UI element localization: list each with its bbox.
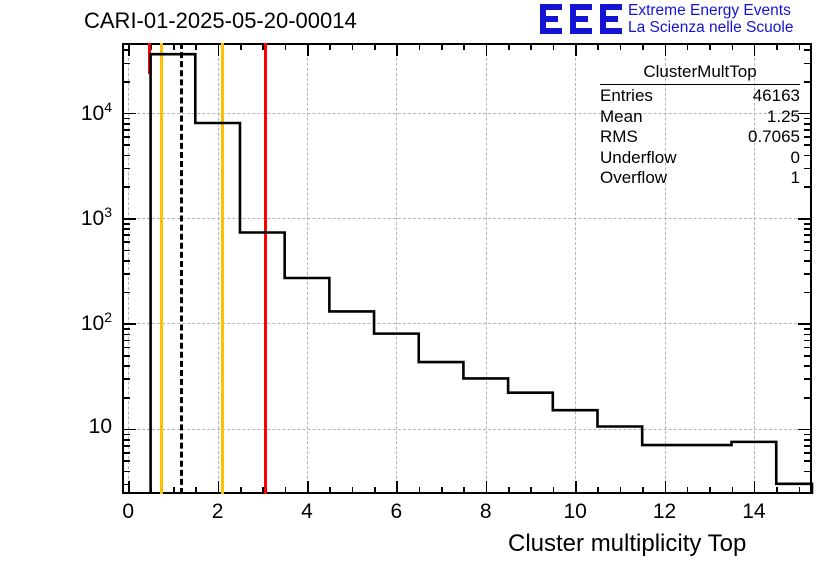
y-axis-tick-right xyxy=(804,460,812,462)
y-axis-tick-right xyxy=(804,445,812,447)
y-axis-tick xyxy=(122,49,130,51)
x-axis-tick-top xyxy=(374,43,376,50)
y-axis-tick xyxy=(122,129,130,131)
x-axis-tick xyxy=(240,487,242,494)
x-axis-tick xyxy=(329,487,331,494)
y-axis-tick-right xyxy=(804,186,812,188)
eee-logo: Extreme Energy Events La Scienza nelle S… xyxy=(540,2,832,36)
stats-value: 0.7065 xyxy=(748,127,800,148)
y-axis-tick-right xyxy=(804,355,812,357)
x-axis-tick-top xyxy=(396,43,398,56)
y-axis-label: 103 xyxy=(42,204,112,231)
y-axis-tick xyxy=(122,347,130,349)
x-axis-tick-top xyxy=(597,43,599,50)
y-axis-tick xyxy=(122,334,130,336)
x-axis-tick xyxy=(597,487,599,494)
stats-key: Entries xyxy=(600,86,653,107)
y-axis-tick xyxy=(122,378,130,380)
y-axis-tick-right xyxy=(804,155,812,157)
y-axis-tick-right xyxy=(804,81,812,83)
y-axis-tick xyxy=(122,340,130,342)
stats-rows: Entries46163Mean1.25RMS0.7065Underflow0O… xyxy=(600,86,800,189)
y-axis-tick xyxy=(122,113,136,115)
x-axis-tick xyxy=(665,481,667,494)
x-axis-tick-top xyxy=(195,43,197,50)
y-axis-tick xyxy=(122,144,130,146)
y-axis-tick xyxy=(122,439,130,441)
statistics-box: ClusterMultTop Entries46163Mean1.25RMS0.… xyxy=(600,62,800,189)
x-axis-label: 8 xyxy=(456,500,516,524)
y-axis-tick-right xyxy=(798,323,812,325)
x-axis-tick-top xyxy=(285,43,287,50)
y-axis-tick-right xyxy=(804,378,812,380)
stats-key: Mean xyxy=(600,107,643,128)
x-axis-tick xyxy=(799,487,801,494)
stats-key: Underflow xyxy=(600,148,677,169)
stats-row: Underflow0 xyxy=(600,148,800,169)
y-axis-tick xyxy=(122,186,130,188)
x-axis-tick-top xyxy=(799,43,801,50)
x-axis-tick xyxy=(307,481,309,494)
x-axis-tick xyxy=(776,487,778,494)
x-axis-label: 2 xyxy=(188,500,248,524)
x-axis-tick-top xyxy=(486,43,488,56)
y-axis-tick-right xyxy=(804,144,812,146)
x-axis-label: 10 xyxy=(545,500,605,524)
y-axis-tick xyxy=(122,168,130,170)
x-axis-tick xyxy=(195,487,197,494)
stats-value: 1.25 xyxy=(767,107,800,128)
x-axis-tick xyxy=(620,487,622,494)
x-axis-tick-top xyxy=(508,43,510,50)
y-axis-label: 102 xyxy=(42,309,112,336)
y-axis-tick xyxy=(122,365,130,367)
x-axis-tick-top xyxy=(709,43,711,50)
stats-key: Overflow xyxy=(600,168,667,189)
y-axis-tick-right xyxy=(804,292,812,294)
x-axis-tick-top xyxy=(776,43,778,50)
x-axis-tick xyxy=(352,487,354,494)
stats-row: Mean1.25 xyxy=(600,107,800,128)
y-axis-tick-right xyxy=(804,49,812,51)
stats-value: 0 xyxy=(791,148,800,169)
page-title: CARI-01-2025-05-20-00014 xyxy=(84,8,357,34)
x-axis-tick xyxy=(173,487,175,494)
x-axis-tick-top xyxy=(419,43,421,50)
x-axis-tick xyxy=(396,481,398,494)
y-axis-tick xyxy=(122,273,130,275)
y-axis-tick-right xyxy=(804,347,812,349)
x-axis-tick xyxy=(419,487,421,494)
y-axis-tick xyxy=(122,292,130,294)
y-axis-tick xyxy=(122,118,130,120)
x-axis-tick-top xyxy=(463,43,465,50)
x-axis-tick xyxy=(151,487,153,494)
x-axis-tick xyxy=(486,481,488,494)
y-axis-tick-right xyxy=(804,234,812,236)
x-axis-tick xyxy=(262,487,264,494)
x-axis-tick xyxy=(218,481,220,494)
y-axis-tick xyxy=(122,397,130,399)
y-axis-tick-right xyxy=(804,260,812,262)
x-axis-tick xyxy=(441,487,443,494)
x-axis-label: 4 xyxy=(277,500,337,524)
x-axis-tick xyxy=(709,487,711,494)
x-axis-tick-top xyxy=(240,43,242,50)
y-axis-tick xyxy=(122,434,130,436)
y-axis-tick-right xyxy=(804,334,812,336)
x-axis-title: Cluster multiplicity Top xyxy=(508,530,746,558)
x-axis-tick-top xyxy=(665,43,667,56)
y-axis-tick-right xyxy=(804,484,812,486)
y-axis-tick xyxy=(122,223,130,225)
y-axis-tick xyxy=(122,234,130,236)
y-axis-tick-right xyxy=(804,439,812,441)
y-axis-tick-right xyxy=(804,340,812,342)
y-axis-tick-right xyxy=(804,136,812,138)
eee-logo-text: Extreme Energy Events La Scienza nelle S… xyxy=(628,2,793,36)
x-axis-tick xyxy=(374,487,376,494)
eee-logo-icon xyxy=(540,4,622,34)
stats-key: RMS xyxy=(600,127,638,148)
y-axis-tick-right xyxy=(798,113,812,115)
y-axis-tick xyxy=(122,328,130,330)
y-axis-tick-right xyxy=(804,168,812,170)
y-axis-tick-right xyxy=(804,328,812,330)
y-axis-label: 104 xyxy=(42,99,112,126)
x-axis-tick xyxy=(687,487,689,494)
y-axis-tick-right xyxy=(804,223,812,225)
x-axis-tick-top xyxy=(642,43,644,50)
y-axis-label: 10 xyxy=(42,415,112,439)
x-axis-tick-top xyxy=(352,43,354,50)
x-axis-tick-top xyxy=(575,43,577,56)
y-axis-tick-right xyxy=(804,452,812,454)
y-axis-tick xyxy=(122,471,130,473)
y-axis-tick xyxy=(122,155,130,157)
x-axis-tick-top xyxy=(620,43,622,50)
x-axis-tick xyxy=(285,487,287,494)
stats-title: ClusterMultTop xyxy=(600,62,800,85)
x-axis-tick-top xyxy=(754,43,756,56)
x-axis-tick xyxy=(732,487,734,494)
y-axis-tick xyxy=(122,241,130,243)
y-axis-tick-right xyxy=(804,123,812,125)
y-axis-tick-right xyxy=(804,63,812,65)
y-axis-tick-right xyxy=(804,471,812,473)
x-axis-tick-top xyxy=(307,43,309,56)
x-axis-tick-top xyxy=(530,43,532,50)
y-axis-tick xyxy=(122,355,130,357)
y-axis-tick xyxy=(122,63,130,65)
y-axis-tick xyxy=(122,452,130,454)
y-axis-tick xyxy=(122,81,130,83)
eee-logo-line1: Extreme Energy Events xyxy=(628,2,793,19)
y-axis-tick-right xyxy=(804,365,812,367)
stats-row: Overflow1 xyxy=(600,168,800,189)
y-axis-tick xyxy=(122,323,136,325)
y-axis-tick xyxy=(122,123,130,125)
y-axis-tick-right xyxy=(804,241,812,243)
x-axis-tick xyxy=(642,487,644,494)
y-axis-tick xyxy=(122,460,130,462)
y-axis-tick-right xyxy=(804,250,812,252)
y-axis-tick-right xyxy=(798,218,812,220)
x-axis-tick-top xyxy=(262,43,264,50)
x-axis-tick-top xyxy=(553,43,555,50)
x-axis-tick-top xyxy=(732,43,734,50)
x-axis-tick xyxy=(530,487,532,494)
x-axis-label: 14 xyxy=(724,500,784,524)
y-axis-tick xyxy=(122,445,130,447)
x-axis-label: 6 xyxy=(366,500,426,524)
x-axis-tick xyxy=(463,487,465,494)
stats-row: RMS0.7065 xyxy=(600,127,800,148)
y-axis-tick-right xyxy=(804,397,812,399)
eee-logo-line2: La Scienza nelle Scuole xyxy=(628,19,793,36)
stats-row: Entries46163 xyxy=(600,86,800,107)
x-axis-tick xyxy=(575,481,577,494)
y-axis-tick-right xyxy=(804,273,812,275)
x-axis-tick-top xyxy=(329,43,331,50)
x-axis-tick-top xyxy=(441,43,443,50)
x-axis-tick xyxy=(508,487,510,494)
x-axis-tick-top xyxy=(218,43,220,56)
y-axis-tick-right xyxy=(804,129,812,131)
y-axis-tick-right xyxy=(804,434,812,436)
y-axis-tick xyxy=(122,260,130,262)
y-axis-tick-right xyxy=(804,228,812,230)
stats-value: 46163 xyxy=(753,86,800,107)
stats-value: 1 xyxy=(791,168,800,189)
y-axis-tick xyxy=(122,136,130,138)
x-axis-tick xyxy=(754,481,756,494)
y-axis-tick-right xyxy=(798,429,812,431)
y-axis-tick xyxy=(122,218,136,220)
x-axis-tick-top xyxy=(151,43,153,50)
y-axis-tick xyxy=(122,228,130,230)
x-axis-tick-top xyxy=(173,43,175,50)
y-axis-tick xyxy=(122,250,130,252)
y-axis-tick-right xyxy=(804,118,812,120)
x-axis-tick-top xyxy=(687,43,689,50)
y-axis-tick xyxy=(122,429,136,431)
plot-canvas: CARI-01-2025-05-20-00014 Extreme Energy … xyxy=(0,0,836,572)
x-axis-label: 0 xyxy=(98,500,158,524)
x-axis-tick xyxy=(553,487,555,494)
y-axis-tick xyxy=(122,484,130,486)
x-axis-label: 12 xyxy=(635,500,695,524)
